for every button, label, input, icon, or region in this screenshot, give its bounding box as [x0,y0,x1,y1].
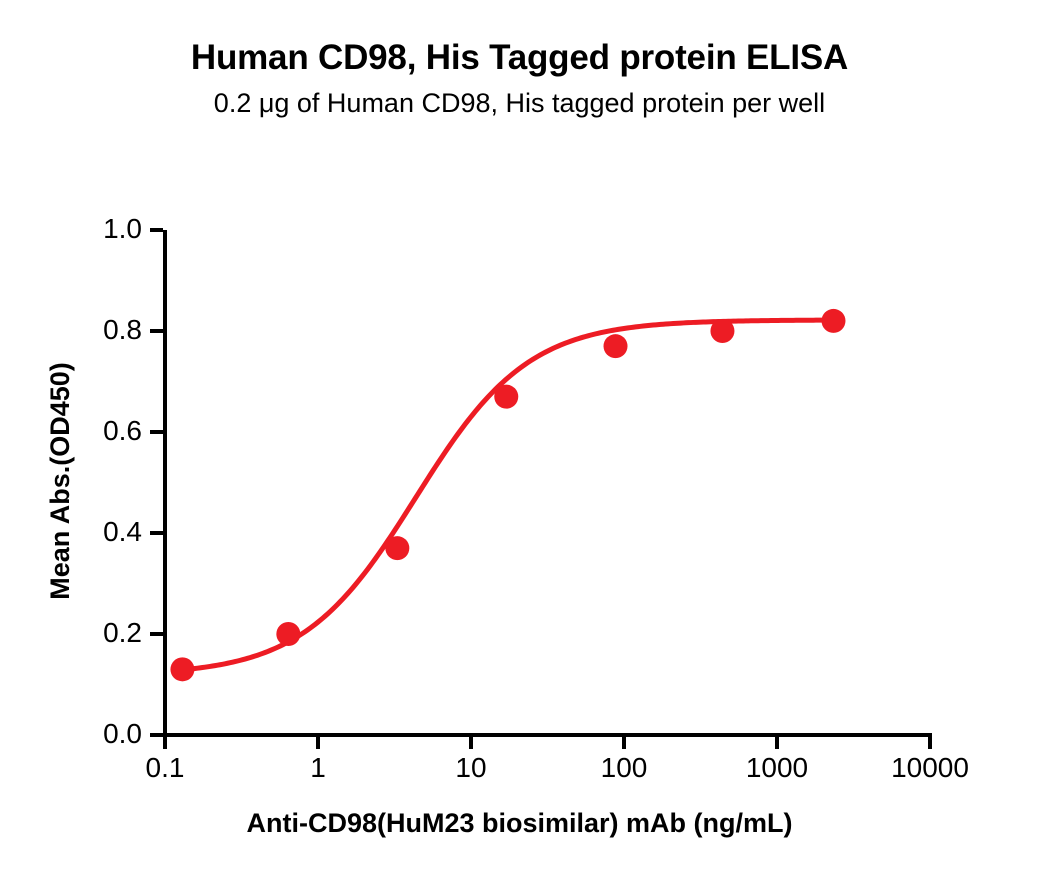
x-tick-label: 10 [391,752,551,784]
x-tick-mark [928,735,932,749]
x-tick-mark [622,735,626,749]
x-tick-mark [163,735,167,749]
data-point-marker [604,334,628,358]
y-tick-mark [150,733,163,737]
data-point-marker [385,536,409,560]
y-tick-label: 0.0 [62,718,142,750]
data-point-marker [710,319,734,343]
y-tick-label: 1.0 [62,213,142,245]
fit-curve-path [182,320,833,670]
x-tick-mark [316,735,320,749]
y-tick-mark [150,430,163,434]
data-point-marker [170,657,194,681]
y-axis-line [163,230,167,737]
y-tick-mark [150,531,163,535]
y-tick-mark [150,632,163,636]
y-tick-label: 0.8 [62,314,142,346]
x-tick-mark [469,735,473,749]
data-point-marker [821,309,845,333]
x-tick-label: 1 [238,752,398,784]
elisa-chart-figure: Human CD98, His Tagged protein ELISA 0.2… [0,0,1039,886]
x-tick-mark [775,735,779,749]
y-tick-label: 0.2 [62,617,142,649]
x-tick-label: 1000 [697,752,857,784]
x-axis-line [163,733,932,737]
x-axis-title: Anti-CD98(HuM23 biosimilar) mAb (ng/mL) [0,808,1039,839]
y-tick-mark [150,329,163,333]
chart-title: Human CD98, His Tagged protein ELISA [0,38,1039,78]
x-tick-label: 10000 [850,752,1010,784]
data-point-marker [276,622,300,646]
y-tick-label: 0.4 [62,516,142,548]
data-point-marker [494,385,518,409]
data-point-markers [170,309,845,681]
chart-subtitle: 0.2 μg of Human CD98, His tagged protein… [0,88,1039,119]
y-tick-mark [150,228,163,232]
y-tick-label: 0.6 [62,415,142,447]
x-tick-label: 100 [544,752,704,784]
x-tick-label: 0.1 [85,752,245,784]
